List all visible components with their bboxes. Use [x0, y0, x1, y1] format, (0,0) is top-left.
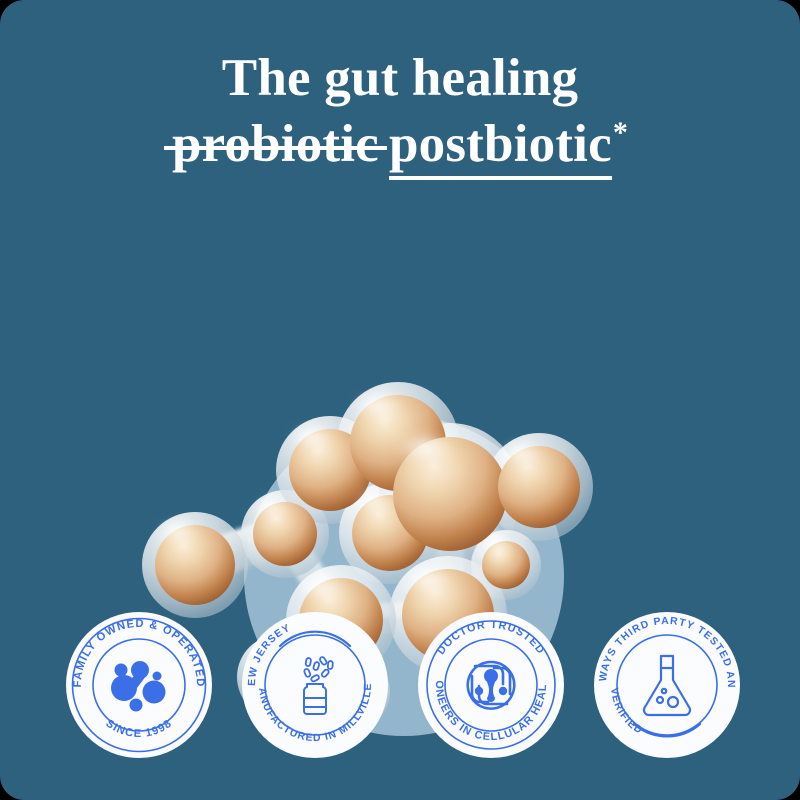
badge-manufactured[interactable]: MANUFACTURED IN MILLVILLE, NEW JERSEY: [242, 612, 388, 758]
struck-word: probiotic: [172, 118, 379, 171]
molecule-hero-image: [0, 180, 800, 580]
footnote-asterisk: *: [613, 116, 628, 149]
trust-badge-row: FAMILY OWNED & OPERATED SINCE 1998: [0, 612, 800, 760]
headline-line-1: The gut healing: [0, 52, 800, 105]
highlighted-word: postbiotic: [389, 118, 612, 171]
badge-family-owned[interactable]: FAMILY OWNED & OPERATED SINCE 1998: [66, 612, 212, 758]
headline-line-2: probioticpostbiotic*: [0, 118, 800, 171]
product-claim-card: The gut healing probioticpostbiotic*: [0, 0, 800, 800]
badge-third-party-tested[interactable]: ALWAYS THIRD PARTY TESTED AND VERIFIED: [594, 612, 740, 758]
page-title: The gut healing probioticpostbiotic*: [0, 52, 800, 171]
badge-doctor-trusted[interactable]: DOCTOR TRUSTED PIONEERS IN CELLULAR HEAL…: [418, 612, 564, 758]
